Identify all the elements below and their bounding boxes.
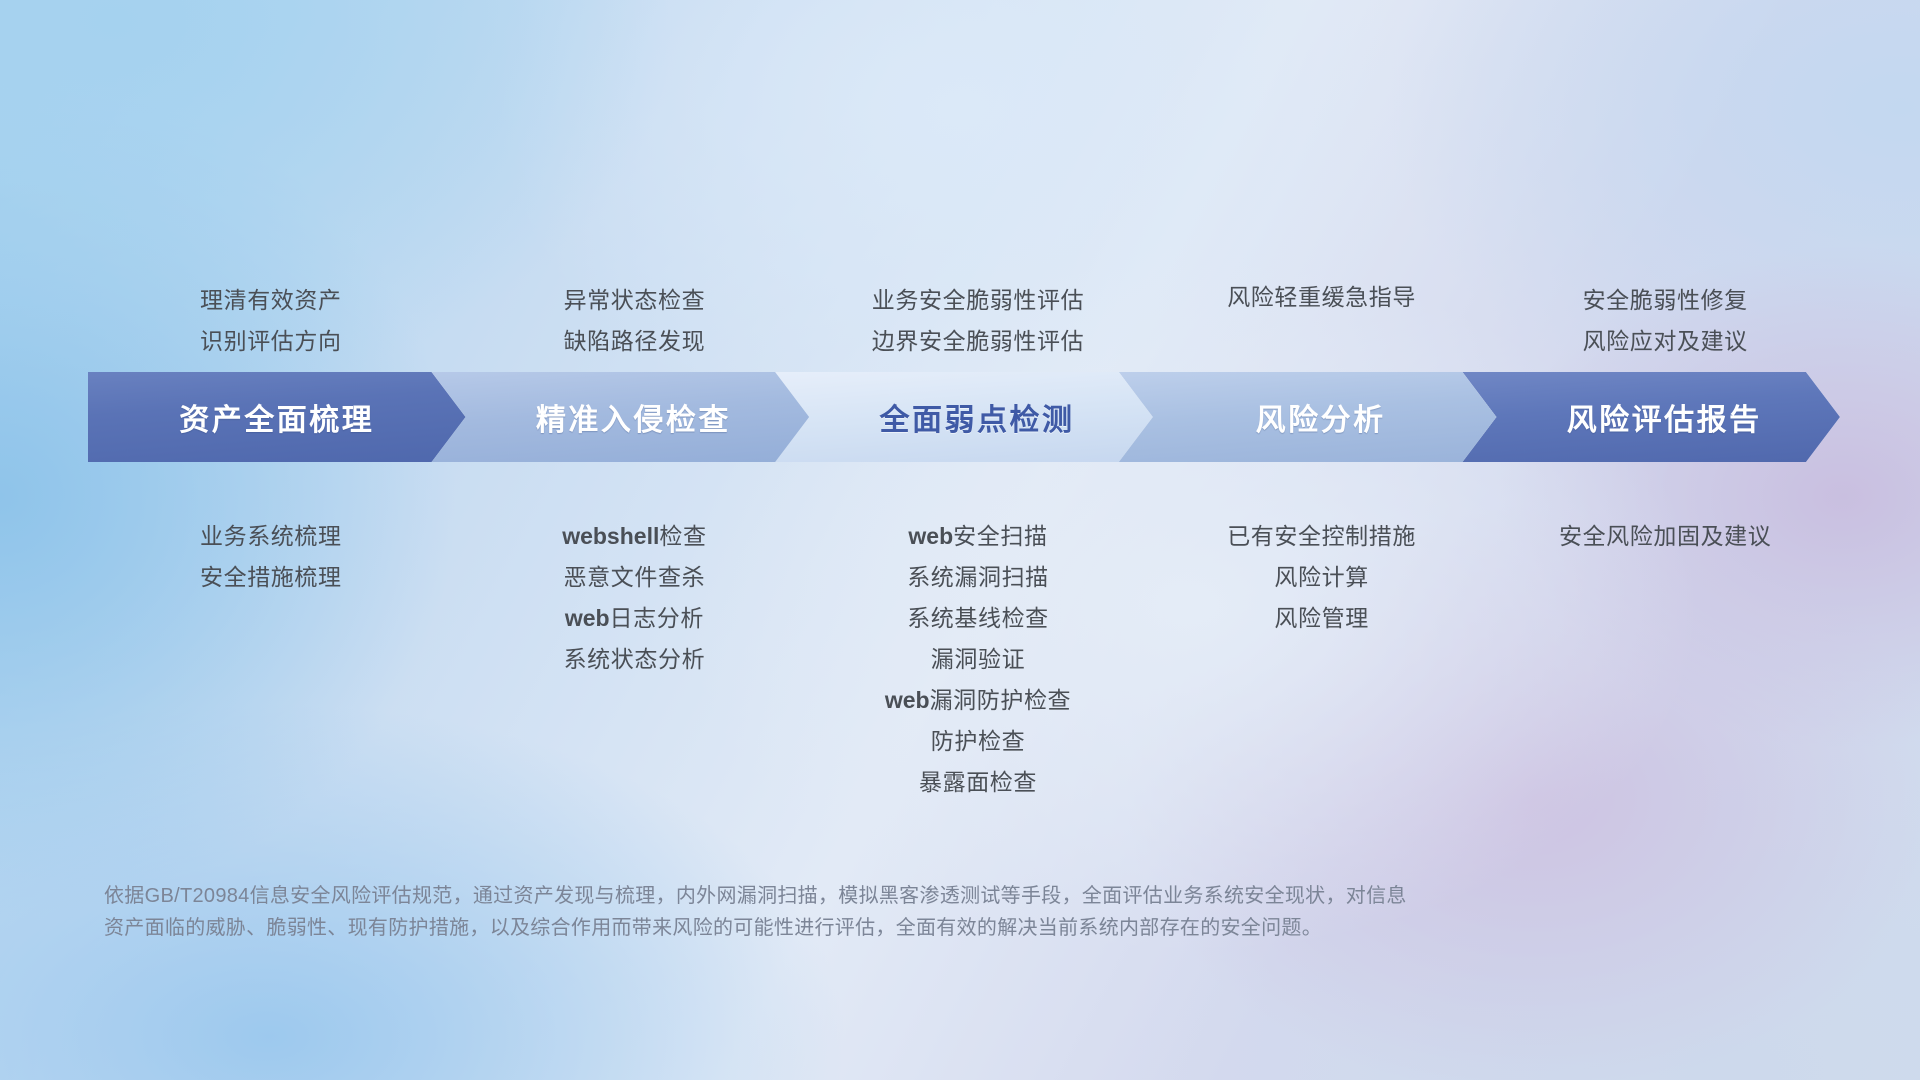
process-stage-5[interactable]: 风险评估报告 [1462,372,1840,462]
footer-line-1: 依据GB/T20984信息安全风险评估规范，通过资产发现与梳理，内外网漏洞扫描，… [104,880,1724,912]
bottom-item: 风险管理 [1274,598,1368,639]
stage-label: 资产全面梳理 [179,395,374,439]
process-chevron-band: 资产全面梳理精准入侵检查全面弱点检测风险分析风险评估报告 [0,372,1920,462]
bottom-item: 暴露面检查 [919,762,1037,803]
process-stage-1[interactable]: 资产全面梳理 [88,372,466,462]
bottom-item-keyword: webshell [562,523,659,549]
bottom-item: 安全措施梳理 [200,557,342,598]
bottom-item: 防护检查 [931,721,1025,762]
bottom-item-keyword: web [565,605,610,631]
bottom-item-keyword: web [885,687,930,713]
footer-description: 依据GB/T20984信息安全风险评估规范，通过资产发现与梳理，内外网漏洞扫描，… [104,880,1724,945]
bottom-item-keyword: web [908,523,953,549]
stage-label: 全面弱点检测 [879,395,1074,439]
process-stage-3[interactable]: 全面弱点检测 [775,372,1153,462]
bottom-item-text: 漏洞验证 [931,646,1025,672]
bottom-item-text: 风险计算 [1274,564,1368,590]
stage-label: 风险分析 [1256,395,1386,439]
top-item: 识别评估方向 [200,321,342,362]
bottom-item: 安全风险加固及建议 [1559,516,1771,557]
bottom-item-text: 漏洞防护检查 [930,687,1072,713]
bottom-item-text: 业务系统梳理 [200,523,342,549]
bottom-item: 漏洞验证 [931,639,1025,680]
process-stage-4[interactable]: 风险分析 [1119,372,1497,462]
bottom-item: web漏洞防护检查 [885,680,1071,721]
stage-label: 风险评估报告 [1567,395,1762,439]
top-item: 风险应对及建议 [1583,321,1748,362]
process-stage-2[interactable]: 精准入侵检查 [432,372,810,462]
stage-top-list-5: 安全脆弱性修复风险应对及建议 [1365,232,1920,362]
bottom-item-text: 暴露面检查 [919,769,1037,795]
bottom-item: 风险计算 [1274,557,1368,598]
bottom-item-text: 防护检查 [931,728,1025,754]
bottom-item: 业务系统梳理 [200,516,342,557]
stage-label: 精准入侵检查 [536,395,731,439]
diagram-canvas: 理清有效资产识别评估方向异常状态检查缺陷路径发现业务安全脆弱性评估边界安全脆弱性… [0,0,1920,1080]
bottom-item-text: 安全风险加固及建议 [1559,523,1771,549]
bottom-item-text: 安全措施梳理 [200,564,342,590]
top-item: 理清有效资产 [200,280,342,321]
stage-bottom-list-5: 安全风险加固及建议 [1365,512,1920,557]
top-item: 安全脆弱性修复 [1583,280,1748,321]
bottom-item-text: 风险管理 [1274,605,1368,631]
footer-line-2: 资产面临的威胁、脆弱性、现有防护措施，以及综合作用而带来风险的可能性进行评估，全… [104,912,1724,944]
